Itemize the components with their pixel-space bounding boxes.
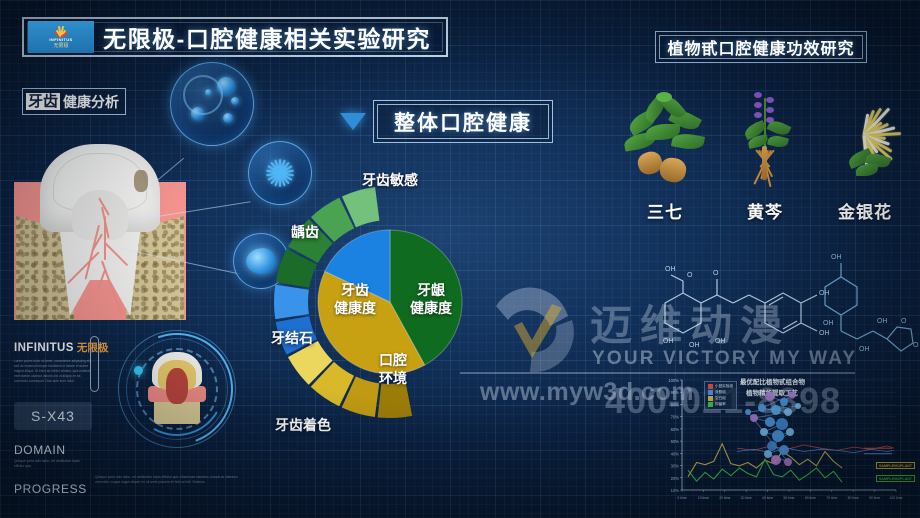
legend-label: 对照组 — [715, 390, 726, 395]
hud-marker-dot — [134, 366, 143, 375]
legend-swatch — [708, 390, 713, 395]
domain-title: DOMAIN — [14, 443, 122, 457]
progress-text: Quisque porta odio tortor, vel vestibulu… — [95, 475, 245, 485]
legend-label: 小鼠实验组 — [715, 384, 733, 389]
hud-tooth-diagram — [118, 330, 236, 448]
molecule-atom — [765, 392, 775, 401]
y-tick-label: 50% — [671, 439, 680, 444]
molecular-structure-overlay — [740, 392, 818, 474]
germ-dot — [231, 97, 239, 105]
sunburst-icon — [48, 26, 74, 37]
plant-gallery: 三七 黄芩 金银花 — [615, 78, 915, 223]
ring-label-staining: 牙齿着色 — [275, 415, 331, 435]
panel-brand-cn: 无限极 — [77, 340, 109, 355]
molecule-atom — [745, 409, 751, 415]
y-tick-label: 40% — [671, 451, 680, 456]
pie-label-teeth: 牙齿健康度 — [321, 282, 389, 317]
svg-text:OH: OH — [715, 338, 726, 345]
series-tag-sample001: SAMPLE001PLANT — [876, 462, 915, 469]
purple-flower — [766, 107, 774, 113]
bacteria-colony-bubble — [170, 62, 254, 146]
x-tick-label: 80 time — [848, 496, 859, 500]
legend-item: 抑菌率 — [708, 402, 733, 407]
efficacy-line-chart: 100%90%80%70%60%50%40%30%20%10%0 time10 … — [648, 370, 920, 518]
title-bar: INFINITUS 无限极 无限极-口腔健康相关实验研究 — [22, 17, 448, 57]
tooth-nerves — [76, 194, 124, 306]
x-tick-label: 10 time — [698, 496, 709, 500]
purple-flower — [754, 92, 762, 98]
panel-lorem-text: Lorem ipsum dolor sit amet, consectetur … — [14, 359, 94, 384]
molecule-atom — [786, 428, 794, 436]
plant-name: 三七 — [647, 198, 683, 223]
svg-text:OH: OH — [859, 346, 870, 353]
legend-label: 空白组 — [715, 396, 726, 401]
domain-text: Quisque porta odio tortor, vel vestibulu… — [14, 459, 86, 469]
sample-code-badge: S-X43 — [14, 402, 92, 430]
y-tick-label: 70% — [671, 415, 680, 420]
svg-text:OH: OH — [663, 338, 674, 345]
tag-rest: 健康分析 — [63, 92, 119, 112]
info-panel: INFINITUS 无限极 Lorem ipsum dolor sit amet… — [14, 340, 122, 512]
svg-text:O: O — [901, 318, 907, 325]
legend-item: 对照组 — [708, 390, 733, 395]
x-tick-label: 50 time — [783, 496, 794, 500]
triangle-down-icon — [340, 113, 366, 130]
x-tick-label: 0 time — [677, 496, 686, 500]
svg-text:OH: OH — [823, 320, 834, 327]
molecule-bond — [754, 412, 788, 418]
molecule-atom — [776, 418, 788, 430]
scutellaria-plant-icon — [722, 88, 808, 196]
molecule-atom — [771, 405, 781, 415]
legend-swatch — [708, 396, 713, 401]
svg-text:O: O — [713, 270, 719, 277]
purple-flower — [766, 97, 774, 103]
tooth-health-analysis-tag: 牙齿 健康分析 — [22, 88, 126, 115]
legend-swatch — [708, 402, 713, 407]
purple-flower — [754, 112, 762, 118]
y-tick-label: 100% — [668, 378, 679, 383]
oral-health-chart: 牙齿健康度 牙龈健康度 口腔环境 — [265, 170, 515, 420]
legend-item: 空白组 — [708, 396, 733, 401]
notoginseng-plant-icon — [622, 88, 708, 196]
plant-item: 黄芩 — [715, 78, 815, 223]
molecule-atom — [758, 404, 766, 412]
x-tick-label: 90 time — [869, 496, 880, 500]
svg-text:OH: OH — [877, 318, 888, 325]
root-tuber — [658, 156, 688, 185]
svg-text:O: O — [913, 342, 919, 349]
tooth-cross-section-image — [14, 138, 186, 320]
svg-text:OH: OH — [819, 290, 830, 297]
x-tick-label: 30 time — [741, 496, 752, 500]
molecule-atom — [750, 414, 758, 422]
inner-ring — [183, 75, 223, 115]
molecule-atom — [764, 450, 772, 458]
molecule-svg — [740, 392, 818, 474]
overall-oral-health-title: 整体口腔健康 — [394, 107, 532, 137]
molecule-atom — [767, 441, 777, 451]
line-chart-legend: 小鼠实验组对照组空白组抑菌率 — [704, 381, 737, 410]
ring-label-tartar: 牙结石 — [271, 328, 313, 348]
slide-canvas: INFINITUS 无限极 无限极-口腔健康相关实验研究 植物甙口腔健康功效研究… — [0, 0, 920, 518]
molecule-atom — [784, 408, 792, 416]
purple-flower — [754, 102, 762, 108]
leaf — [766, 118, 791, 138]
y-tick-label: 80% — [671, 402, 680, 407]
x-tick-label: 70 time — [826, 496, 837, 500]
y-tick-label: 60% — [671, 427, 680, 432]
plant-item: 三七 — [615, 78, 715, 223]
pie-label-gum: 牙龈健康度 — [397, 282, 465, 317]
flower-cluster — [656, 92, 672, 102]
germ-dot — [223, 113, 233, 123]
plant-item: 金银花 — [815, 78, 915, 223]
ring-label-sensitivity: 牙齿敏感 — [362, 170, 418, 190]
plant-name: 黄芩 — [747, 198, 783, 223]
y-tick-label: 20% — [671, 476, 680, 481]
chart-segment — [274, 285, 309, 319]
pie-label-environment: 口腔环境 — [359, 352, 427, 387]
legend-swatch — [708, 384, 713, 389]
taproot — [762, 146, 767, 180]
svg-text:OH: OH — [689, 342, 700, 349]
molecule-atom — [779, 445, 789, 455]
x-tick-label: 40 time — [762, 496, 773, 500]
overall-oral-health-header: 整体口腔健康 — [373, 100, 553, 143]
infinitus-logo: INFINITUS 无限极 — [28, 21, 94, 53]
molecule-atom — [780, 398, 788, 406]
page-title: 无限极-口腔健康相关实验研究 — [94, 20, 446, 54]
y-tick-label: 10% — [671, 488, 680, 493]
molecule-atom — [795, 403, 801, 409]
hud-pulp — [166, 368, 188, 404]
caries-spot — [134, 170, 148, 192]
hud-tooth-cross-section — [148, 352, 206, 424]
svg-text:O: O — [687, 272, 693, 279]
honeysuckle-plant-icon — [822, 88, 908, 196]
legend-label: 抑菌率 — [715, 402, 726, 407]
molecule-atom — [784, 458, 792, 466]
molecule-atom — [772, 430, 784, 442]
x-tick-label: 100 time — [889, 496, 902, 500]
svg-text:OH: OH — [831, 254, 842, 261]
tag-highlight: 牙齿 — [26, 93, 60, 111]
y-tick-label: 90% — [671, 390, 680, 395]
series-tag-sample002: SAMPLE002PLANT — [876, 475, 915, 482]
svg-text:OH: OH — [665, 266, 676, 273]
chemical-structure-diagram: OH O O OH OH OH OH OH OH OH OH OH O O — [625, 243, 920, 363]
ring-label-caries: 龋齿 — [291, 222, 319, 242]
x-tick-label: 60 time — [805, 496, 816, 500]
domain-section: DOMAIN Quisque porta odio tortor, vel ve… — [14, 443, 122, 469]
molecule-atom — [760, 428, 768, 436]
plant-research-title: 植物甙口腔健康功效研究 — [667, 35, 854, 59]
chart-segment — [378, 382, 412, 418]
molecule-atom — [765, 417, 775, 427]
logo-brand-cn: 无限极 — [53, 43, 68, 49]
leaf — [767, 134, 789, 150]
legend-item: 小鼠实验组 — [708, 384, 733, 389]
svg-text:OH: OH — [819, 330, 830, 337]
plant-research-title-box: 植物甙口腔健康功效研究 — [655, 31, 867, 63]
molecule-atom — [771, 455, 781, 465]
panel-brand-en: INFINITUS — [14, 342, 74, 354]
line-chart-title-1: 最优配比植物甙组合物 — [740, 376, 805, 386]
leaf — [856, 164, 878, 176]
x-tick-label: 20 time — [719, 496, 730, 500]
y-tick-label: 30% — [671, 464, 680, 469]
plant-name: 金银花 — [838, 198, 892, 223]
